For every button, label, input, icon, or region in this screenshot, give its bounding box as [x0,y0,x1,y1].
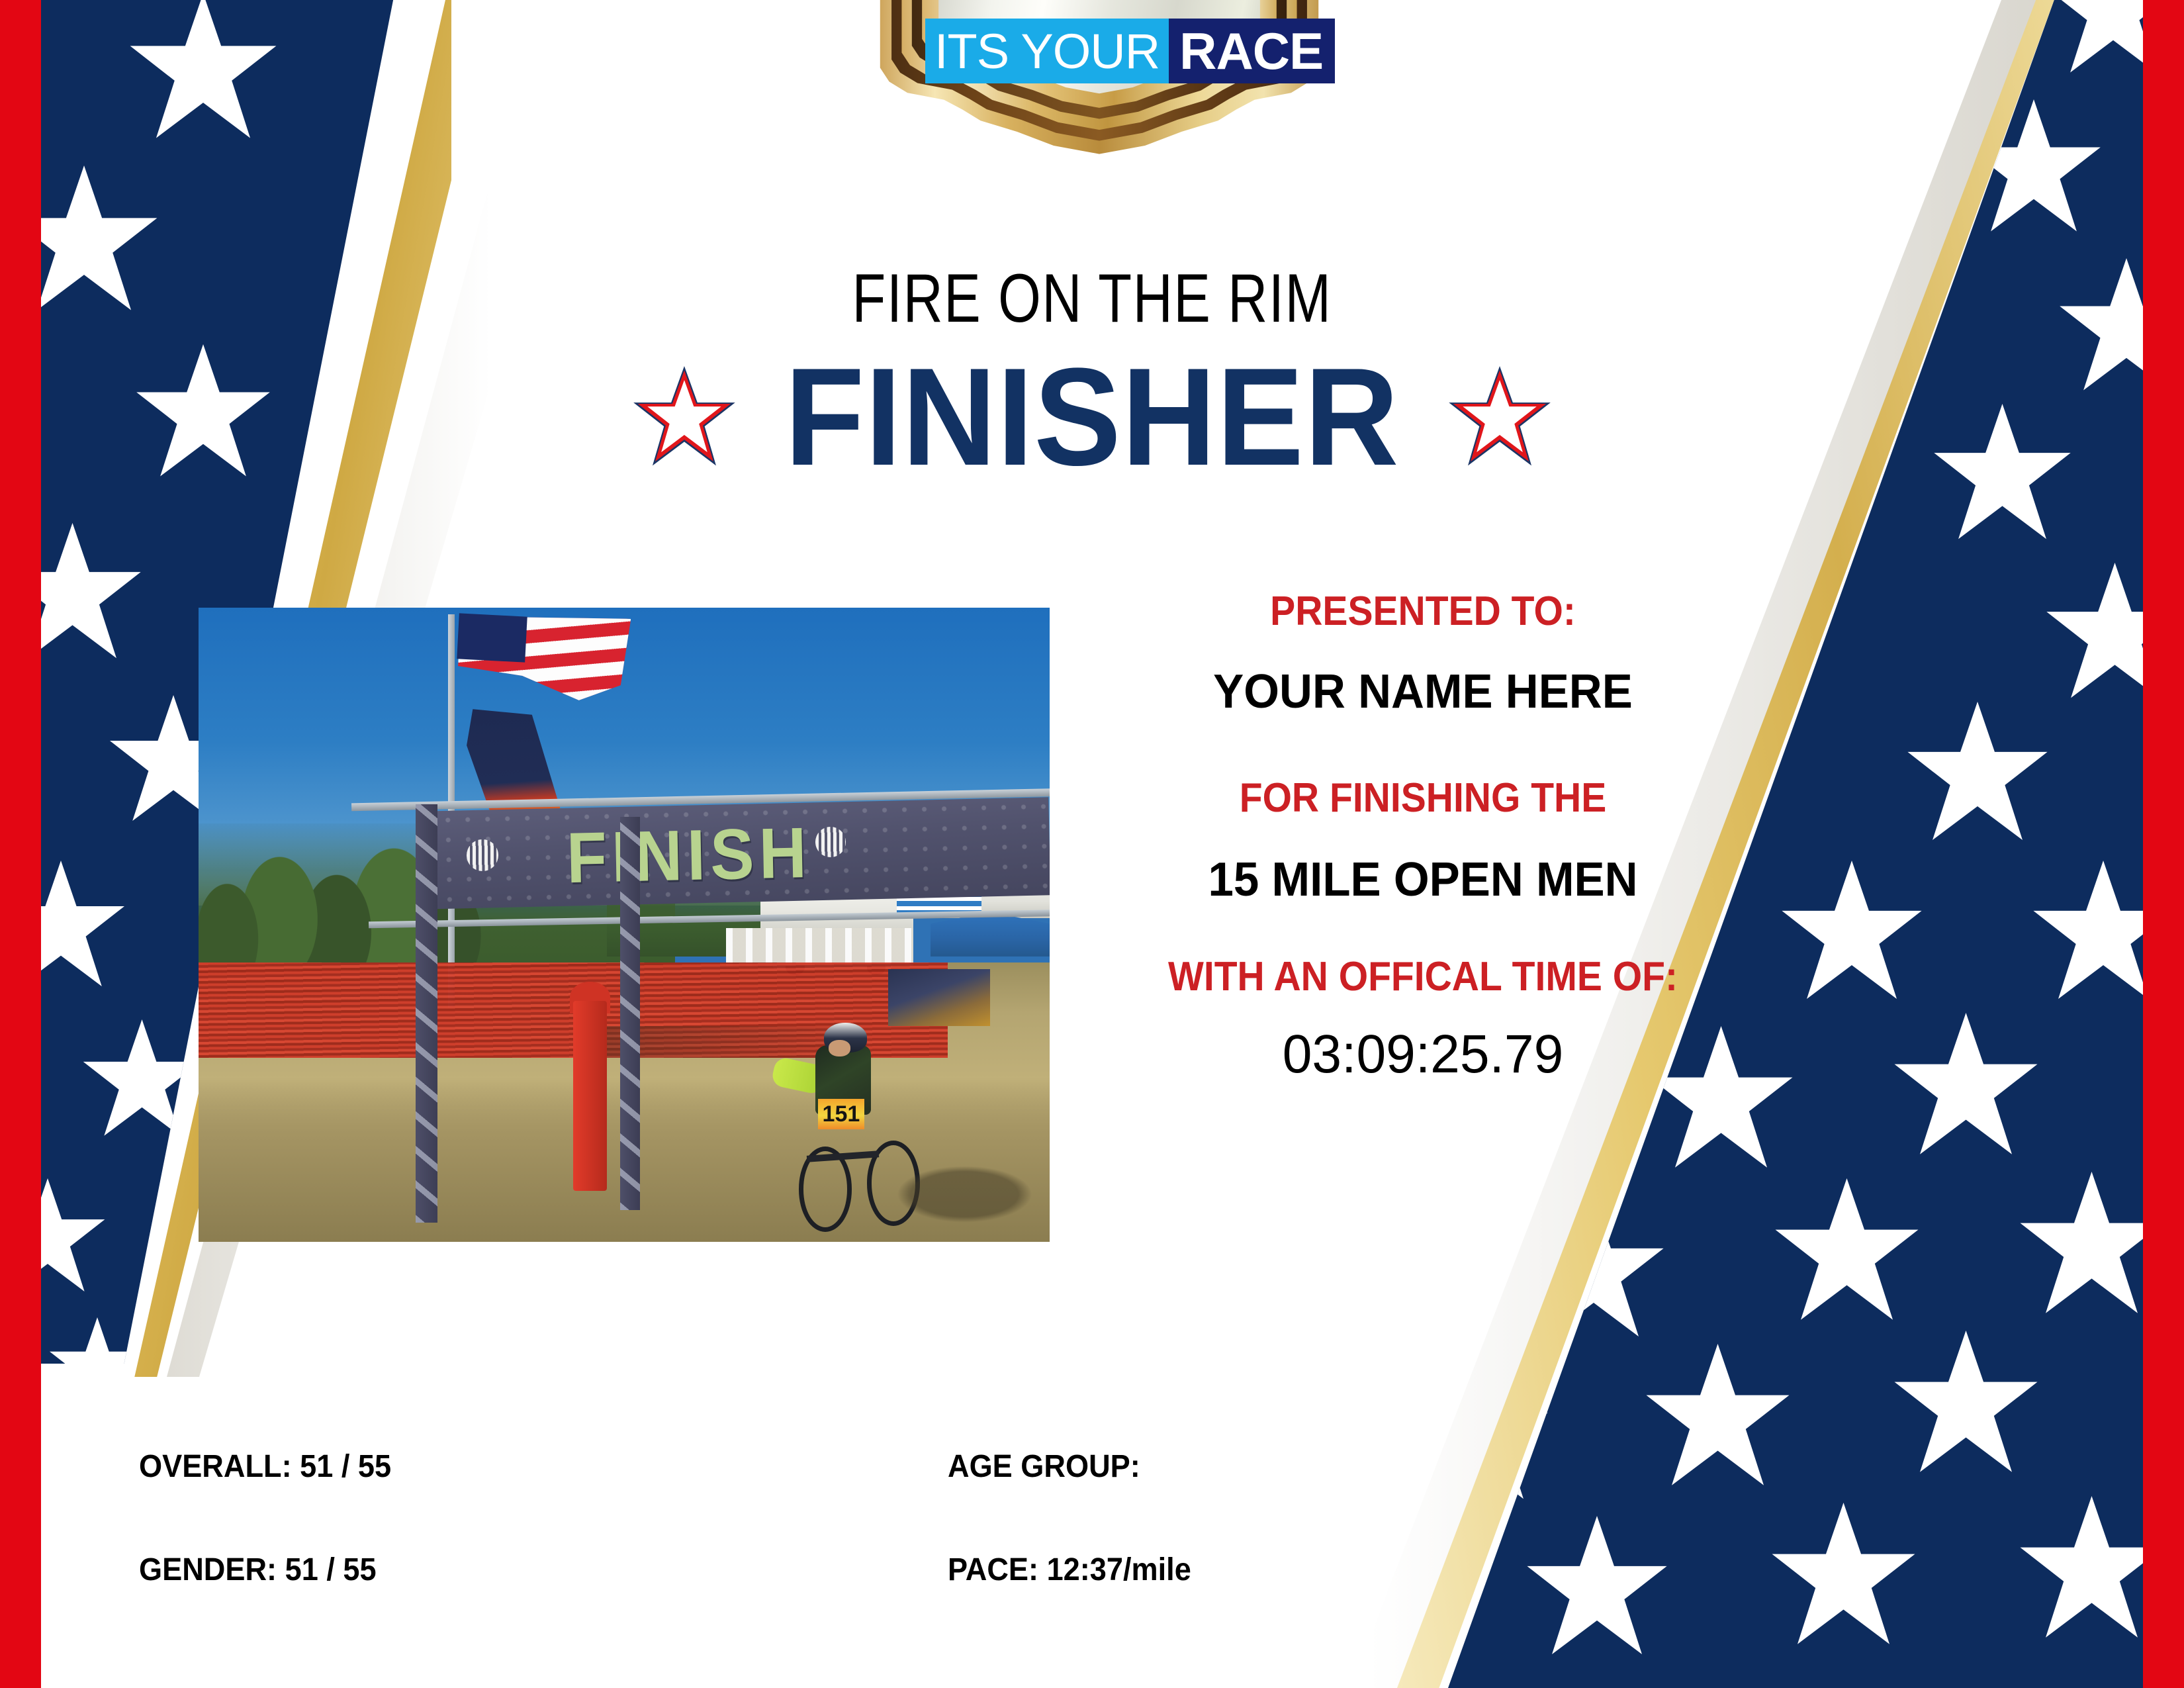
photo-arch-post-left [416,804,437,1223]
photo-race-bib: 151 [818,1099,864,1129]
photo-arch-post-right [620,817,641,1210]
decorative-star-icon [2044,563,2143,705]
star-left-icon [631,364,737,470]
brand-logo-its-your: ITS YOUR [925,19,1169,83]
decorative-star-icon [2030,861,2143,1006]
decorative-star-icon [41,165,160,318]
photo-white-fence [726,928,913,966]
decorative-star-icon [81,1019,203,1142]
photo-rider-face [829,1040,850,1056]
decorative-star-icon [1643,1344,1792,1493]
decorative-star-icon [1905,702,2050,847]
photo-rider-shadow [897,1166,1033,1223]
presented-to-label: PRESENTED TO: [1100,588,1745,635]
finish-line-photo: FINISH 151 [199,608,1050,1242]
decorative-star-icon [41,523,144,665]
for-finishing-label: FOR FINISHING THE [1100,774,1745,821]
finisher-heading-row: FINISHER [0,351,2184,483]
photo-us-flag-canton [457,614,527,663]
award-title: FINISHER [785,351,1400,483]
event-category: 15 MILE OPEN MEN [1086,853,1760,907]
stat-age-group: AGE GROUP: [948,1448,1140,1485]
decorative-star-icon [1524,1516,1670,1662]
decorative-star-icon [48,1317,147,1417]
right-red-edge-stripe [2143,0,2184,1688]
decorative-star-icon [2017,1496,2143,1645]
photo-sponsor-mark-left [467,839,499,871]
photo-finish-banner-text: FINISH [566,811,812,899]
decorative-star-icon [41,1178,107,1297]
brand-logo-race: RACE [1169,19,1335,83]
star-right-icon [1447,364,1553,470]
decorative-star-icon [41,861,127,993]
stat-pace: PACE: 12:37/mile [948,1552,1191,1588]
decorative-star-icon [2044,0,2143,79]
race-name-title: FIRE ON THE RIM [218,259,1966,338]
right-flag-decoration [1362,0,2143,1688]
decorative-star-icon [1772,1178,1921,1327]
left-red-edge-stripe [0,0,41,1688]
certificate-canvas: ITS YOUR RACE FIRE ON THE RIM FINISHER [0,0,2184,1688]
photo-barrier-post [573,1001,607,1191]
decorative-star-icon [1769,1503,1918,1652]
decorative-star-icon [127,0,279,146]
decorative-star-icon [1779,861,1925,1006]
stat-gender: GENDER: 51 / 55 [139,1552,377,1588]
recipient-name: YOUR NAME HERE [1086,665,1760,719]
decorative-star-icon [1891,1331,2040,1479]
decorative-star-icon [2017,1172,2143,1321]
stat-overall: OVERALL: 51 / 55 [139,1448,391,1485]
photo-blue-tent [931,912,1050,957]
decorative-star-icon [1891,1013,2040,1162]
finish-time: 03:09:25.79 [1079,1023,1767,1086]
brand-logo[interactable]: ITS YOUR RACE [925,19,1275,83]
photo-sponsor-flag [888,969,990,1026]
official-time-label: WITH AN OFFICAL TIME OF: [1100,953,1745,1000]
